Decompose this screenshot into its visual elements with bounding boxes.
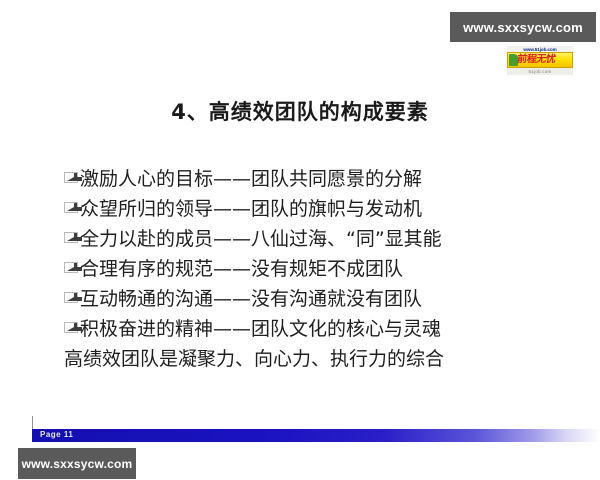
screen-icon [64, 292, 78, 303]
screen-icon [64, 202, 78, 213]
watermark-bottom-left: www.sxxsycw.com [18, 448, 136, 479]
watermark-top-right: www.sxxsycw.com [450, 12, 596, 42]
bullet-list: 激励人心的目标——团队共同愿景的分解 众望所归的领导——团队的旗帜与发动机 全力… [64, 162, 534, 372]
list-item: 众望所归的领导——团队的旗帜与发动机 [64, 192, 534, 222]
logo-sub-text: 51job.com [507, 68, 573, 75]
screen-icon [64, 172, 78, 183]
summary-line-label: 高绩效团队是凝聚力、向心力、执行力的综合 [64, 344, 444, 371]
list-item-label: 众望所归的领导——团队的旗帜与发动机 [80, 194, 422, 221]
screen-icon [64, 232, 78, 243]
list-item: 互动畅通的沟通——没有沟通就没有团队 [64, 282, 534, 312]
footer-gradient-bar [32, 429, 600, 442]
screen-icon [64, 262, 78, 273]
list-item: 合理有序的规范——没有规矩不成团队 [64, 252, 534, 282]
summary-line: 高绩效团队是凝聚力、向心力、执行力的综合 [64, 342, 534, 372]
page-title: 4、高绩效团队的构成要素 [0, 96, 600, 126]
page-number-label: Page 11 [40, 430, 73, 439]
list-item-label: 积极奋进的精神——团队文化的核心与灵魂 [80, 314, 441, 341]
51job-logo: www.51job.com 前程无忧 51job.com [507, 46, 573, 75]
list-item-label: 全力以赴的成员——八仙过海、“同”显其能 [80, 224, 442, 251]
list-item-label: 互动畅通的沟通——没有沟通就没有团队 [80, 284, 422, 311]
list-item-label: 激励人心的目标——团队共同愿景的分解 [80, 164, 422, 191]
list-item: 积极奋进的精神——团队文化的核心与灵魂 [64, 312, 534, 342]
list-item-label: 合理有序的规范——没有规矩不成团队 [80, 254, 403, 281]
logo-brand-text: 前程无忧 [516, 53, 572, 67]
list-item: 全力以赴的成员——八仙过海、“同”显其能 [64, 222, 534, 252]
screen-icon [64, 322, 78, 333]
footer-tick-mark [32, 416, 33, 429]
slide-canvas: www.sxxsycw.com www.51job.com 前程无忧 51job… [0, 0, 600, 480]
list-item: 激励人心的目标——团队共同愿景的分解 [64, 162, 534, 192]
logo-plate: 前程无忧 [507, 52, 573, 68]
